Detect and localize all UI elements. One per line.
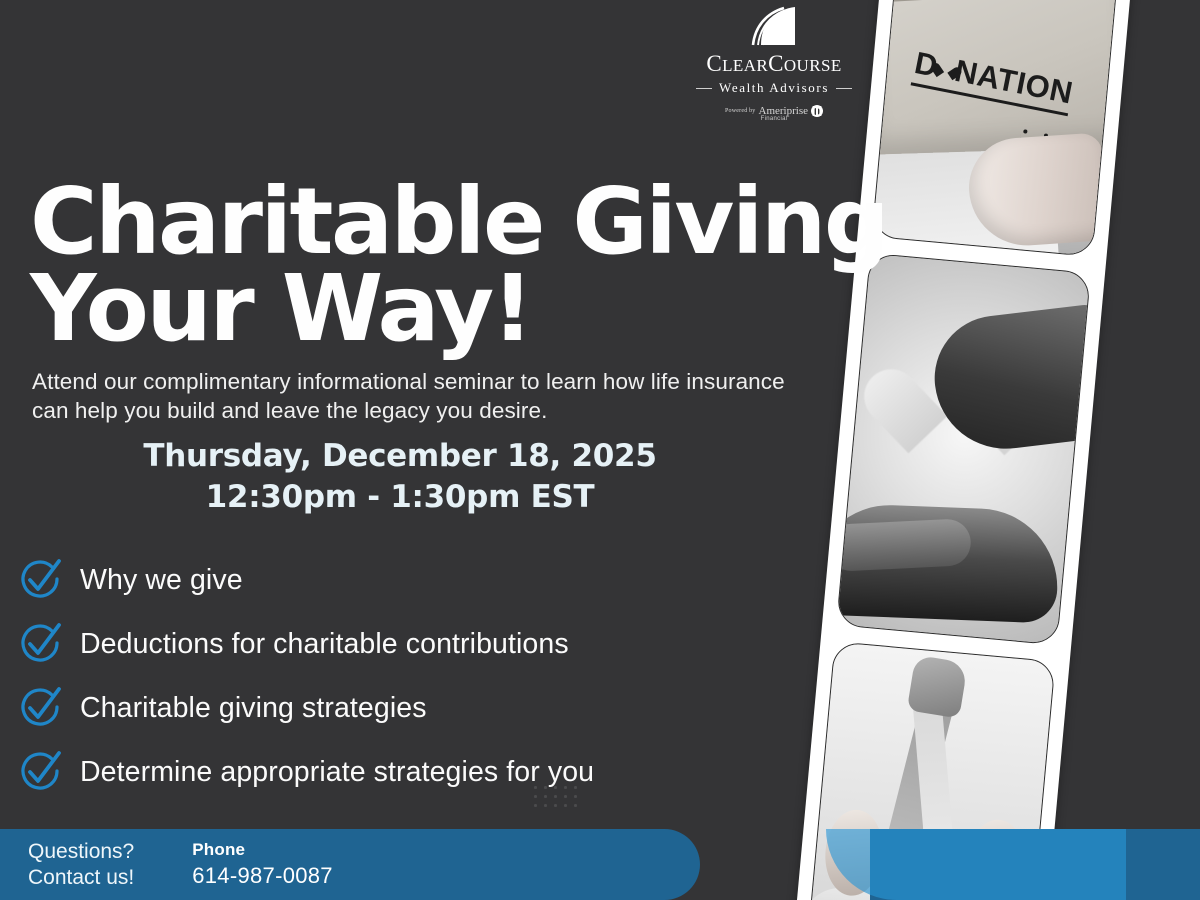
gloved-hands (907, 654, 968, 718)
footer-blue-tint-overlay (826, 829, 1126, 900)
flyer-canvas: DNATION (0, 0, 1200, 900)
list-item-label: Determine appropriate strategies for you (80, 756, 594, 789)
dot-grid-decoration (534, 786, 584, 813)
page-title: Charitable Giving Your Way! (30, 178, 910, 353)
list-item-label: Deductions for charitable contributions (80, 628, 569, 661)
list-item-label: Charitable giving strategies (80, 692, 427, 725)
list-item: Determine appropriate strategies for you (18, 740, 818, 804)
contact-footer-bar: Questions? Contact us! Phone 614-987-008… (0, 829, 700, 900)
powered-by-text: Powered by (725, 108, 756, 114)
hand-holding-box (966, 132, 1109, 249)
partner-subtitle: Financial (690, 116, 858, 122)
list-item: Why we give (18, 548, 818, 612)
event-time: 12:30pm - 1:30pm EST (0, 477, 800, 518)
event-datetime: Thursday, December 18, 2025 12:30pm - 1:… (0, 436, 800, 518)
check-circle-icon (18, 686, 62, 730)
brand-logo: CLEARCOURSE Wealth Advisors Powered by A… (690, 4, 858, 122)
logo-wordmark: CLEARCOURSE (690, 52, 858, 75)
questions-line-1: Questions? (28, 839, 134, 865)
receiving-hands (836, 502, 1061, 623)
questions-line-2: Contact us! (28, 865, 134, 891)
phone-block: Phone 614-987-0087 (192, 840, 333, 889)
questions-text: Questions? Contact us! (28, 839, 134, 890)
event-date: Thursday, December 18, 2025 (0, 436, 800, 477)
phone-number[interactable]: 614-987-0087 (192, 863, 333, 889)
logo-tagline: Wealth Advisors (719, 80, 829, 96)
check-circle-icon (18, 750, 62, 794)
check-circle-icon (18, 558, 62, 602)
list-item-label: Why we give (80, 564, 243, 597)
phone-label: Phone (192, 840, 333, 860)
photo-strip: DNATION (791, 0, 1135, 900)
headline-line-2: Your Way! (30, 265, 910, 352)
road-swoosh-icon (751, 6, 797, 46)
subheadline: Attend our complimentary informational s… (32, 367, 822, 426)
list-item: Charitable giving strategies (18, 676, 818, 740)
box-flap (871, 0, 1119, 4)
ameriprise-star-icon (811, 105, 823, 117)
check-circle-icon (18, 622, 62, 666)
topics-list: Why we give Deductions for charitable co… (18, 548, 818, 804)
list-item: Deductions for charitable contributions (18, 612, 818, 676)
